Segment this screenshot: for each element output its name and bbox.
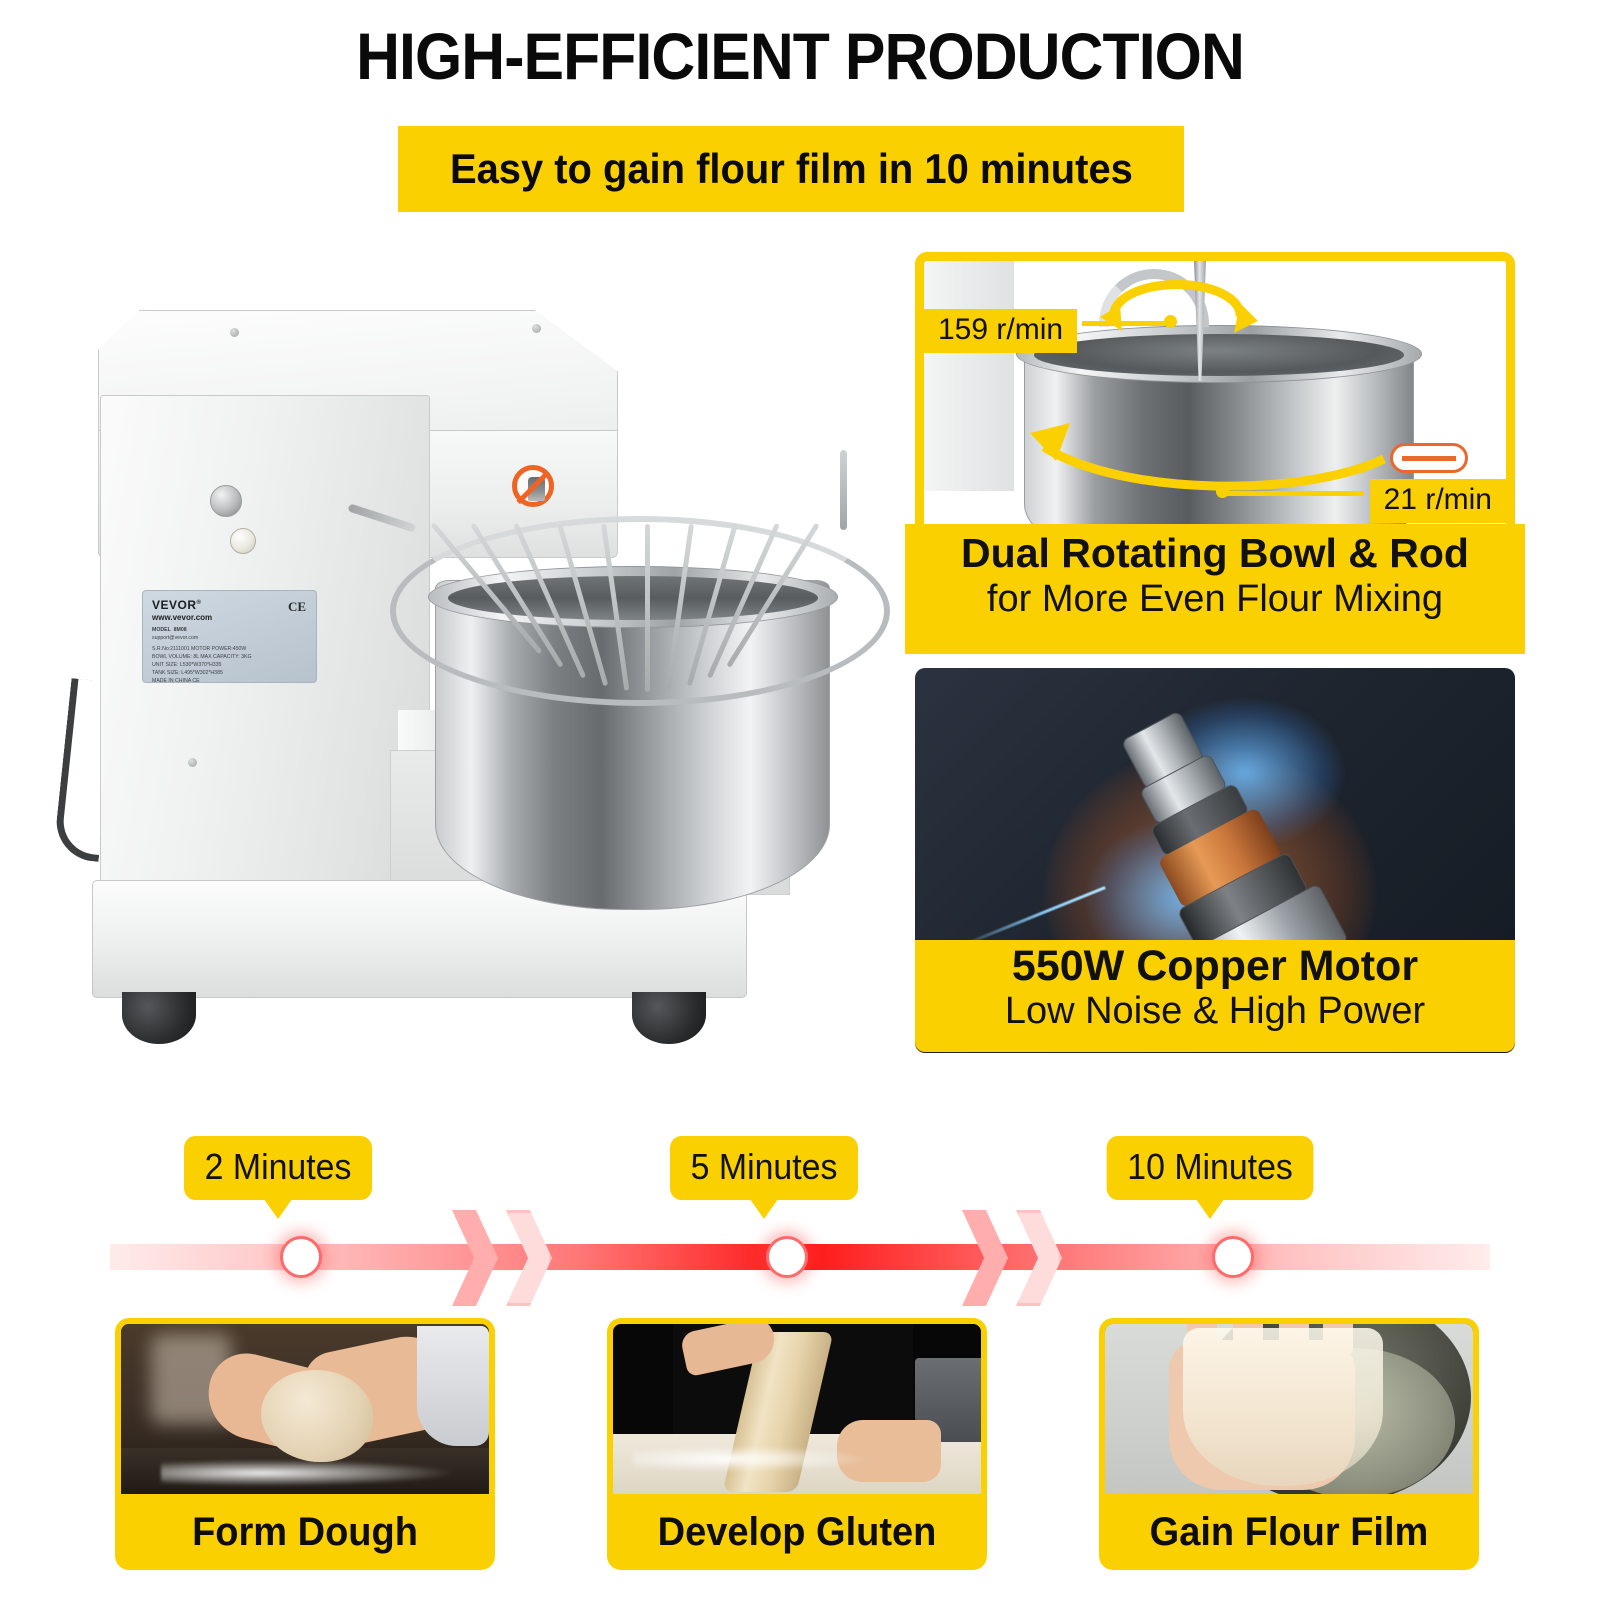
step-label-form-dough: Form Dough — [130, 1494, 480, 1570]
nameplate-spec: MADE IN CHINA CE — [152, 677, 307, 683]
shirt-sleeve — [417, 1326, 489, 1446]
tension-knob — [210, 485, 242, 517]
spiral-hook — [1099, 269, 1209, 327]
bowl-speed-label: 21 r/min — [1370, 479, 1506, 523]
step-image-gain-flour-film — [1105, 1324, 1473, 1494]
mixer-foot — [122, 992, 196, 1044]
translucent-flour-film — [1183, 1328, 1383, 1486]
nameplate-spec: UNIT SIZE: L530*W370*H335 — [152, 661, 307, 669]
scattered-flour — [633, 1446, 873, 1472]
no-hands-warning-icon — [512, 465, 554, 507]
infographic-page: HIGH-EFFICIENT PRODUCTION Easy to gain f… — [0, 0, 1600, 1600]
nameplate-spec: S.R.No:2111001 MOTOR POWER:450W — [152, 645, 307, 653]
safety-guard-ring — [390, 516, 890, 706]
timeline-dot — [766, 1236, 808, 1278]
step-image-form-dough — [121, 1324, 489, 1494]
nameplate-brand: VEVOR® — [152, 598, 307, 612]
timeline-time-label-3: 10 Minutes — [1107, 1136, 1314, 1200]
warning-hand-glyph — [528, 477, 545, 501]
motor-caption: 550W Copper Motor Low Noise & High Power — [915, 940, 1515, 1052]
machine-column — [924, 261, 1014, 491]
scattered-flour — [161, 1460, 451, 1486]
screw-icon — [230, 328, 239, 337]
wire-safety-guard — [335, 490, 895, 730]
direction-sticker-icon — [1390, 443, 1468, 473]
nameplate-spec: BOWL VOLUME: 8L MAX CAPACITY: 3KG — [152, 653, 307, 661]
leader-dot-bowl — [1216, 485, 1229, 498]
timeline-dot — [280, 1236, 322, 1278]
product-nameplate: CE VEVOR® www.vevor.com MODEL 8M08 suppo… — [142, 590, 317, 683]
page-subtitle: Easy to gain flour film in 10 minutes — [450, 145, 1133, 193]
step-card-form-dough: Form Dough — [115, 1318, 495, 1570]
adjust-knob — [230, 528, 256, 554]
timeline-dot — [1212, 1236, 1254, 1278]
product-photo-spiral-mixer: CE VEVOR® www.vevor.com MODEL 8M08 suppo… — [60, 280, 900, 1070]
timeline-time-label-2: 5 Minutes — [670, 1136, 858, 1200]
guard-bar — [645, 524, 650, 692]
safety-guard-arm — [347, 503, 416, 532]
step-label-gain-flour-film: Gain Flour Film — [1114, 1494, 1464, 1570]
step-image-develop-gluten — [613, 1324, 981, 1494]
rod-speed-label: 159 r/min — [924, 309, 1077, 353]
leader-line-bowl — [1224, 491, 1364, 496]
process-timeline: 2 Minutes 5 Minutes 10 Minutes — [0, 1110, 1600, 1300]
rotating-bowl-interior — [1034, 334, 1404, 376]
nameplate-url: www.vevor.com — [152, 613, 307, 622]
dual-rotation-caption: Dual Rotating Bowl & Rod for More Even F… — [905, 524, 1525, 654]
nameplate-email: support@vevor.com — [152, 634, 307, 642]
nameplate-model: MODEL 8M08 — [152, 626, 307, 634]
leader-line-rod — [1082, 321, 1172, 326]
screw-icon — [532, 324, 541, 333]
page-title: HIGH-EFFICIENT PRODUCTION — [64, 22, 1536, 91]
mixer-foot — [632, 992, 706, 1044]
subtitle-banner: Easy to gain flour film in 10 minutes — [398, 126, 1184, 212]
dual-rotation-caption-line1: Dual Rotating Bowl & Rod — [905, 530, 1525, 577]
leader-dot-rod — [1164, 315, 1177, 328]
nameplate-spec: TANK SIZE: L495*W302*H385 — [152, 669, 307, 677]
step-card-develop-gluten: Develop Gluten — [607, 1318, 987, 1570]
dual-rotation-caption-line2: for More Even Flour Mixing — [905, 577, 1525, 623]
motor-caption-line1: 550W Copper Motor — [915, 942, 1515, 990]
step-label-develop-gluten: Develop Gluten — [622, 1494, 972, 1570]
motor-caption-line2: Low Noise & High Power — [915, 990, 1515, 1034]
ce-mark: CE — [288, 599, 306, 615]
screw-icon — [188, 758, 197, 767]
safety-guard-post — [840, 450, 847, 530]
timeline-time-label-1: 2 Minutes — [184, 1136, 372, 1200]
step-card-gain-flour-film: Gain Flour Film — [1099, 1318, 1479, 1570]
